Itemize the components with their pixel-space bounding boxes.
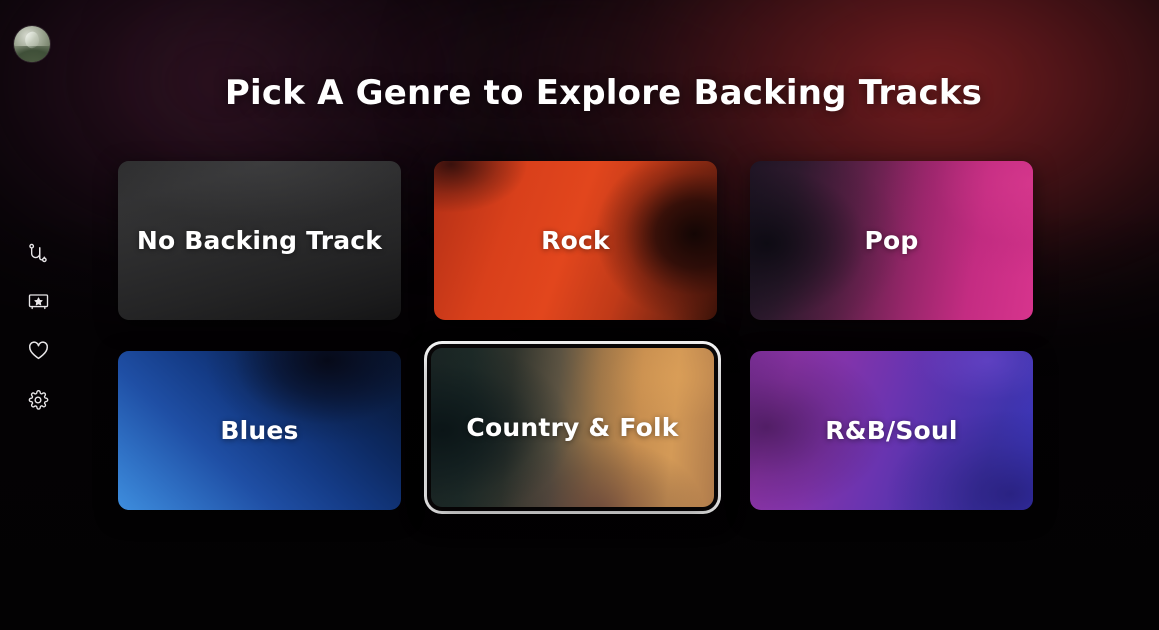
genre-card-label: No Backing Track (127, 226, 392, 255)
genre-card-country-folk[interactable]: Country & Folk (431, 348, 714, 507)
user-avatar[interactable] (14, 26, 50, 62)
sidebar-nav (0, 228, 76, 424)
sidebar-item-signal-chain[interactable] (0, 228, 76, 277)
genre-slot-pop: Pop (750, 161, 1033, 320)
heart-icon (27, 339, 50, 362)
sidebar (0, 0, 76, 630)
genre-grid: No Backing Track Rock Pop (118, 161, 1076, 510)
genre-slot-no-backing-track: No Backing Track (118, 161, 401, 320)
genre-card-label: Rock (531, 226, 620, 255)
app-root: Pick A Genre to Explore Backing Tracks N… (0, 0, 1159, 630)
genre-slot-rnb-soul: R&B/Soul (750, 351, 1033, 510)
page-title: Pick A Genre to Explore Backing Tracks (62, 73, 1145, 113)
main-content: Pick A Genre to Explore Backing Tracks N… (76, 0, 1159, 630)
cable-icon (27, 242, 49, 264)
genre-card-label: Country & Folk (456, 413, 688, 442)
genre-card-label: Blues (210, 416, 308, 445)
genre-card-label: Pop (855, 226, 929, 255)
avatar-image-detail (14, 46, 50, 62)
genre-card-no-backing-track[interactable]: No Backing Track (118, 161, 401, 320)
genre-card-blues[interactable]: Blues (118, 351, 401, 510)
genre-slot-rock: Rock (434, 161, 717, 320)
sidebar-item-settings[interactable] (0, 375, 76, 424)
genre-slot-blues: Blues (118, 351, 401, 510)
sidebar-item-presets[interactable] (0, 277, 76, 326)
genre-card-rnb-soul[interactable]: R&B/Soul (750, 351, 1033, 510)
sidebar-item-favorites[interactable] (0, 326, 76, 375)
genre-card-rock[interactable]: Rock (434, 161, 717, 320)
genre-card-pop[interactable]: Pop (750, 161, 1033, 320)
genre-card-label: R&B/Soul (815, 416, 967, 445)
genre-slot-country-folk: Country & Folk (427, 344, 718, 511)
amp-star-icon (27, 290, 50, 313)
gear-icon (27, 389, 49, 411)
